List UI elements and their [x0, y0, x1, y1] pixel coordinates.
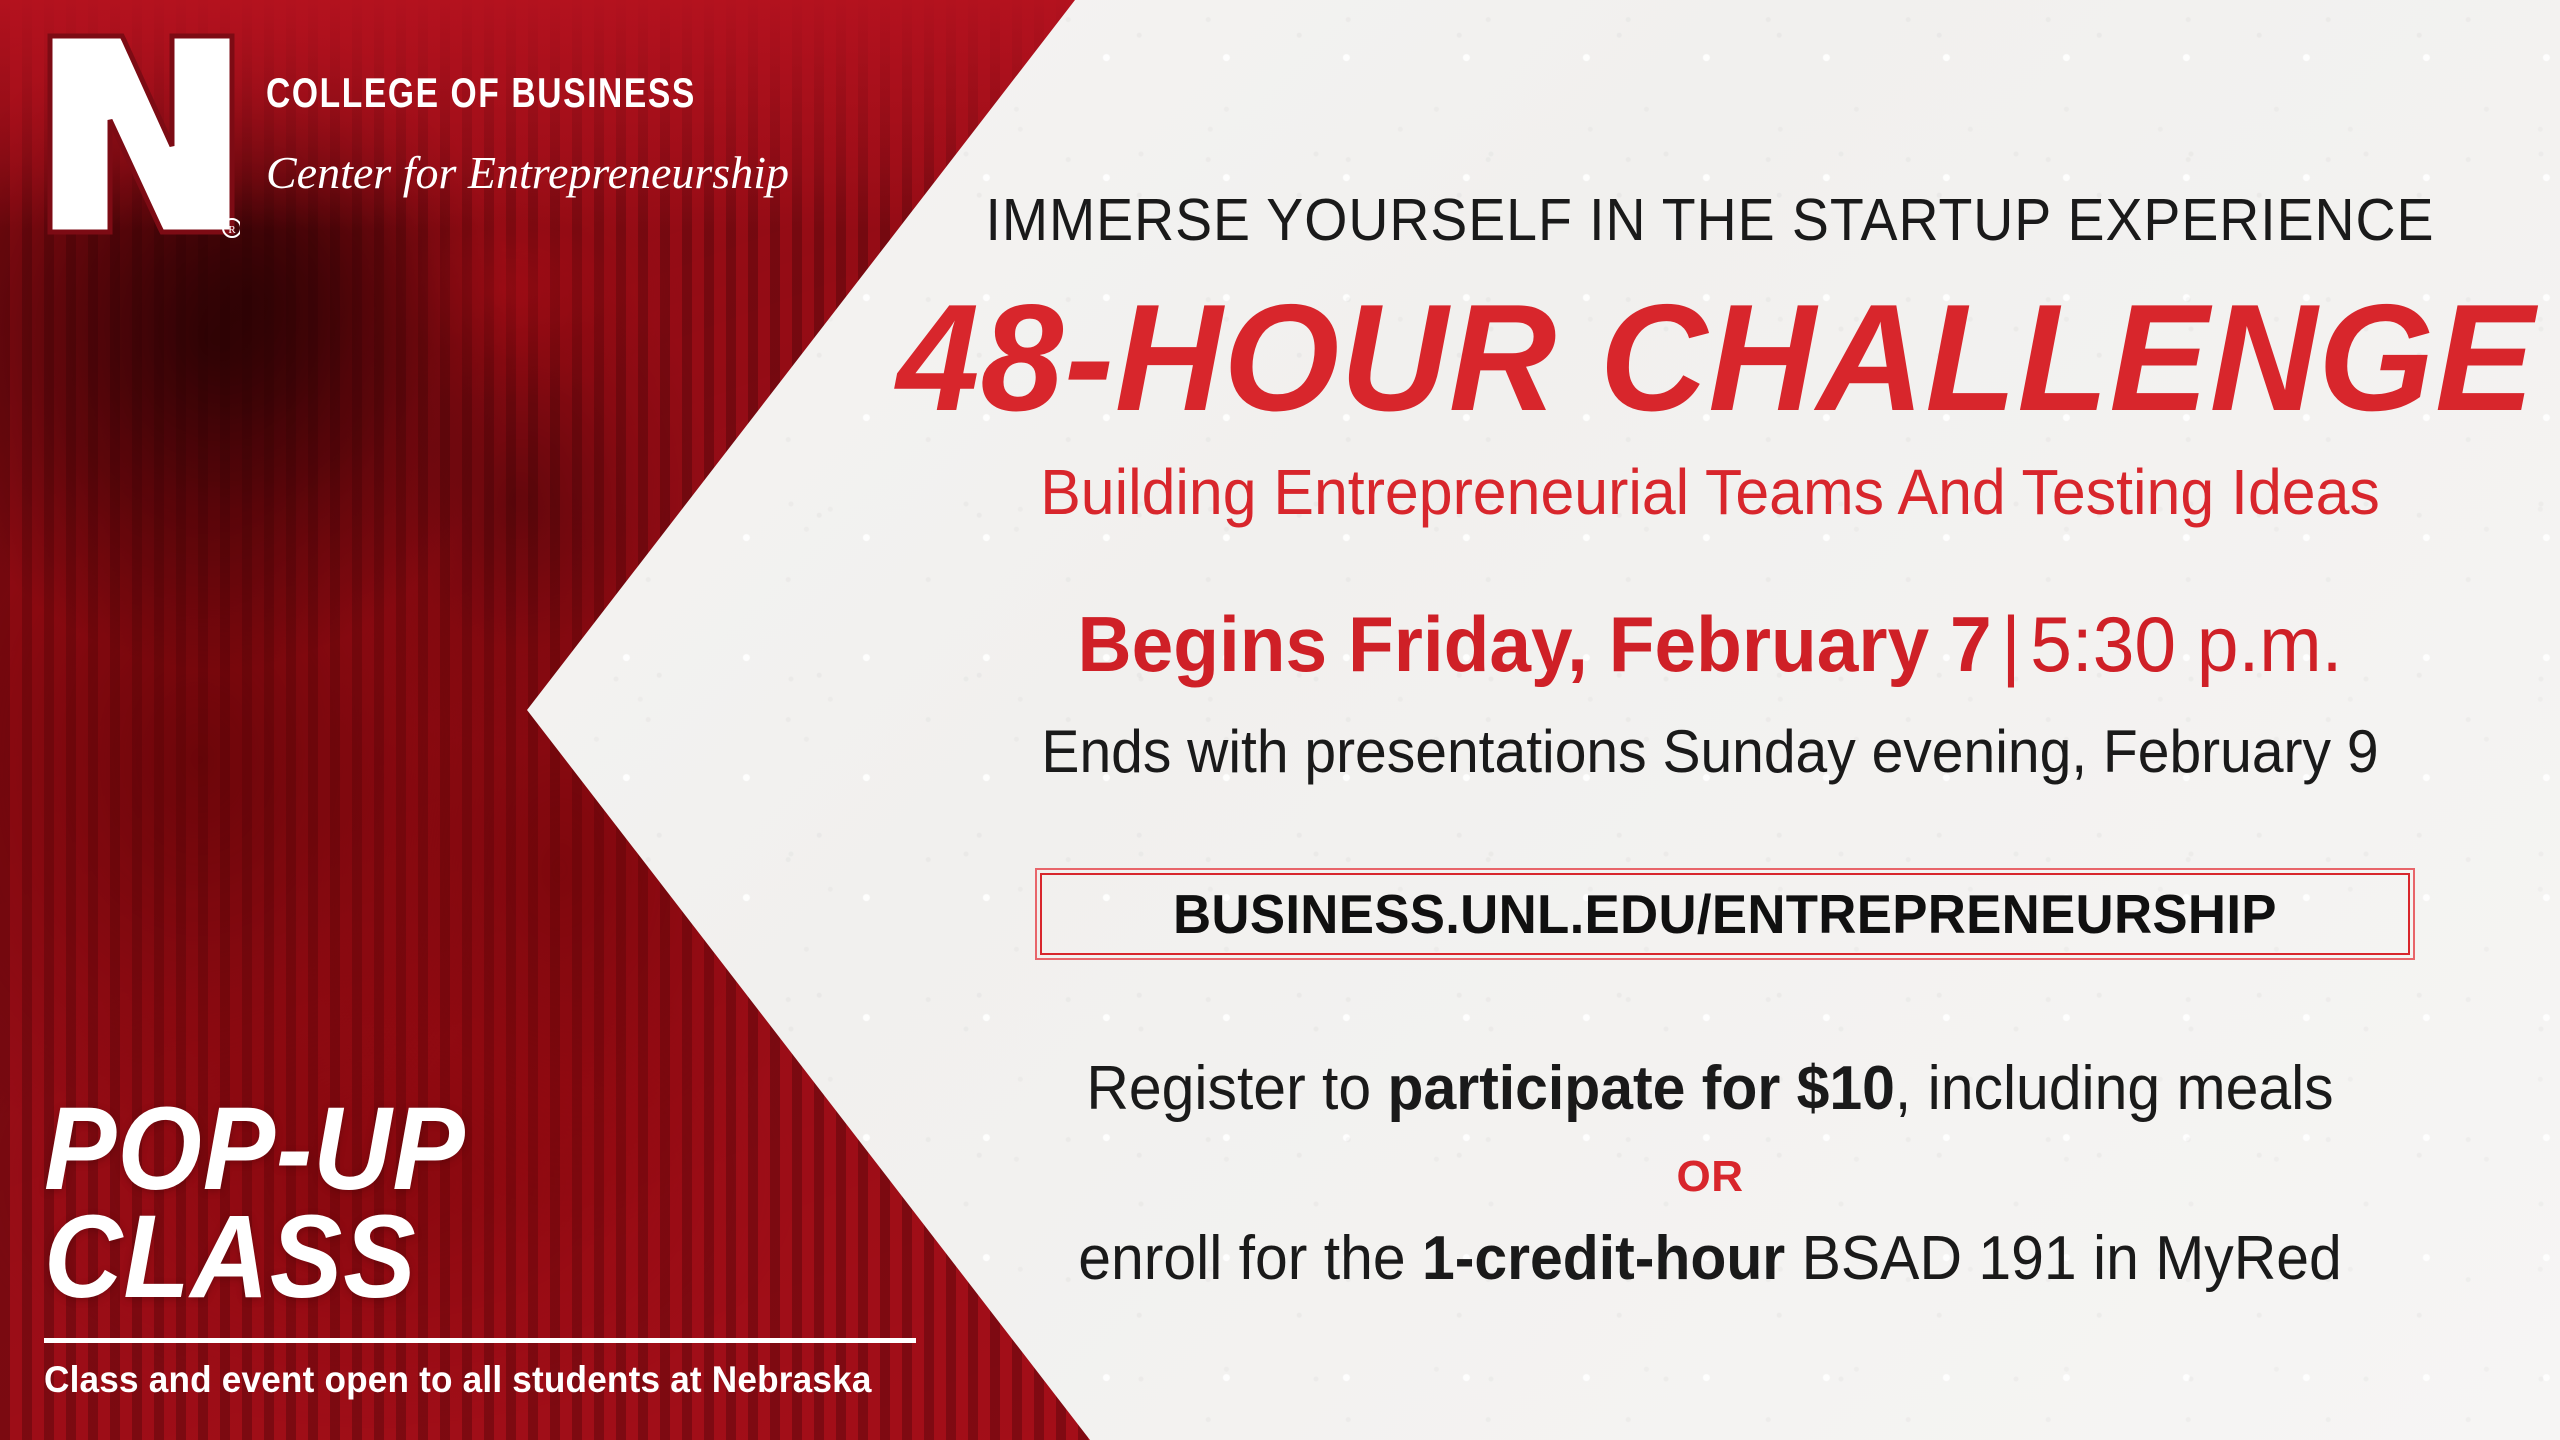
event-begins-date: Begins Friday, February 7 [1078, 600, 1992, 688]
registration-suffix: , including meals [1895, 1054, 2334, 1123]
event-start-time: 5:30 p.m. [2030, 600, 2342, 688]
event-promo-poster: R COLLEGE OF BUSINESS Center for Entrepr… [0, 0, 2560, 1440]
date-separator: | [1992, 600, 2031, 688]
pop-up-footnote: Class and event open to all students at … [44, 1361, 872, 1398]
logo-college-name: COLLEGE OF BUSINESS [266, 72, 696, 114]
pop-up-class-block: POP-UP CLASS Class and event open to all… [44, 1095, 916, 1398]
enroll-suffix: BSAD 191 in MyRed [1785, 1224, 2342, 1293]
logo-text-block: COLLEGE OF BUSINESS Center for Entrepren… [266, 28, 803, 196]
website-url-box-inner: BUSINESS.UNL.EDU/ENTREPRENEURSHIP [1040, 873, 2410, 955]
website-url-text: BUSINESS.UNL.EDU/ENTREPRENEURSHIP [1173, 882, 2277, 946]
enroll-prefix: enroll for the [1078, 1224, 1422, 1293]
kicker-text: IMMERSE YOURSELF IN THE STARTUP EXPERIEN… [930, 186, 2490, 254]
svg-text:R: R [228, 224, 236, 236]
event-end-line: Ends with presentations Sunday evening, … [922, 722, 2499, 782]
registration-price-emphasis: participate for $10 [1388, 1054, 1895, 1123]
event-subheadline: Building Entrepreneurial Teams And Testi… [922, 460, 2499, 524]
event-headline: 48-HOUR CHALLENGE [897, 282, 2524, 434]
main-content-column: IMMERSE YOURSELF IN THE STARTUP EXPERIEN… [880, 0, 2540, 1440]
registration-prefix: Register to [1086, 1054, 1387, 1123]
registration-price-line: Register to participate for $10, includi… [922, 1058, 2499, 1120]
course-enroll-line: enroll for the 1-credit-hour BSAD 191 in… [922, 1228, 2499, 1290]
nebraska-n-mark-icon: R [42, 28, 240, 240]
website-url-box[interactable]: BUSINESS.UNL.EDU/ENTREPRENEURSHIP [1035, 868, 2415, 960]
enroll-credit-emphasis: 1-credit-hour [1422, 1224, 1785, 1293]
or-separator-label: OR [880, 1155, 2540, 1199]
pop-up-divider-rule [44, 1338, 916, 1343]
university-logo-lockup: R COLLEGE OF BUSINESS Center for Entrepr… [42, 28, 803, 240]
pop-up-line-1: POP-UP [44, 1095, 846, 1204]
logo-center-name: Center for Entrepreneurship [266, 150, 803, 196]
pop-up-line-2: CLASS [44, 1203, 846, 1312]
event-date-line: Begins Friday, February 7|5:30 p.m. [913, 605, 2507, 683]
